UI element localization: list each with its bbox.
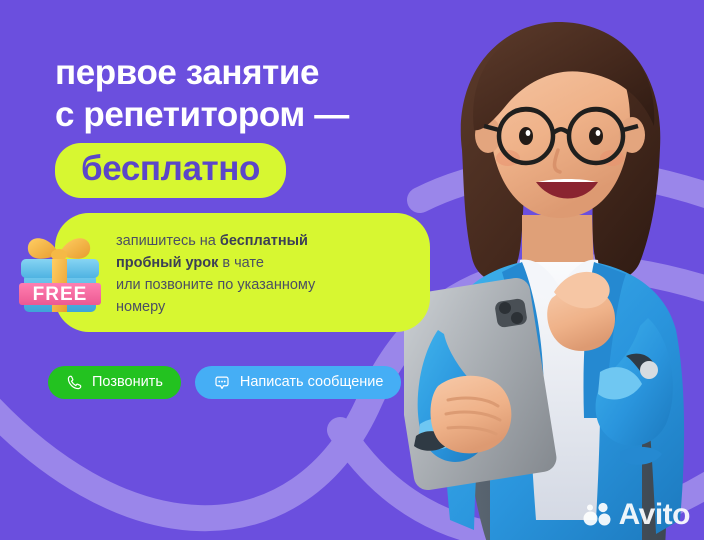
info-text-line-4: номеру	[116, 296, 416, 318]
free-badge: бесплатно	[55, 143, 286, 198]
avito-logo: Avito	[583, 500, 690, 530]
avito-wordmark: Avito	[619, 500, 690, 530]
info-text-line-2: пробный урок в чате	[116, 252, 416, 274]
headline-block: первое занятие с репетитором — бесплатно	[55, 52, 525, 198]
chat-bubble-icon	[213, 374, 231, 392]
avito-dots-icon	[583, 502, 613, 528]
headline-line-1: первое занятие	[55, 52, 525, 94]
info-text-line-3: или позвоните по указанному	[116, 274, 416, 296]
call-button[interactable]: Позвонить	[48, 366, 181, 399]
avito-tutor-promo-banner: первое занятие с репетитором — бесплатно	[0, 0, 704, 540]
phone-icon	[66, 374, 83, 391]
headline-line-2: с репетитором —	[55, 94, 525, 136]
info-text-line-1: запишитесь на бесплатный	[116, 230, 416, 252]
message-button[interactable]: Написать сообщение	[195, 366, 402, 399]
gift-box-free-icon: FREE	[14, 228, 106, 320]
message-button-label: Написать сообщение	[240, 366, 384, 399]
gift-free-label: FREE	[33, 284, 88, 305]
call-button-label: Позвонить	[92, 366, 163, 399]
action-button-row: Позвонить Написать сообщение	[48, 366, 401, 399]
info-card-text: запишитесь на бесплатныйпробный урок в ч…	[116, 230, 416, 318]
